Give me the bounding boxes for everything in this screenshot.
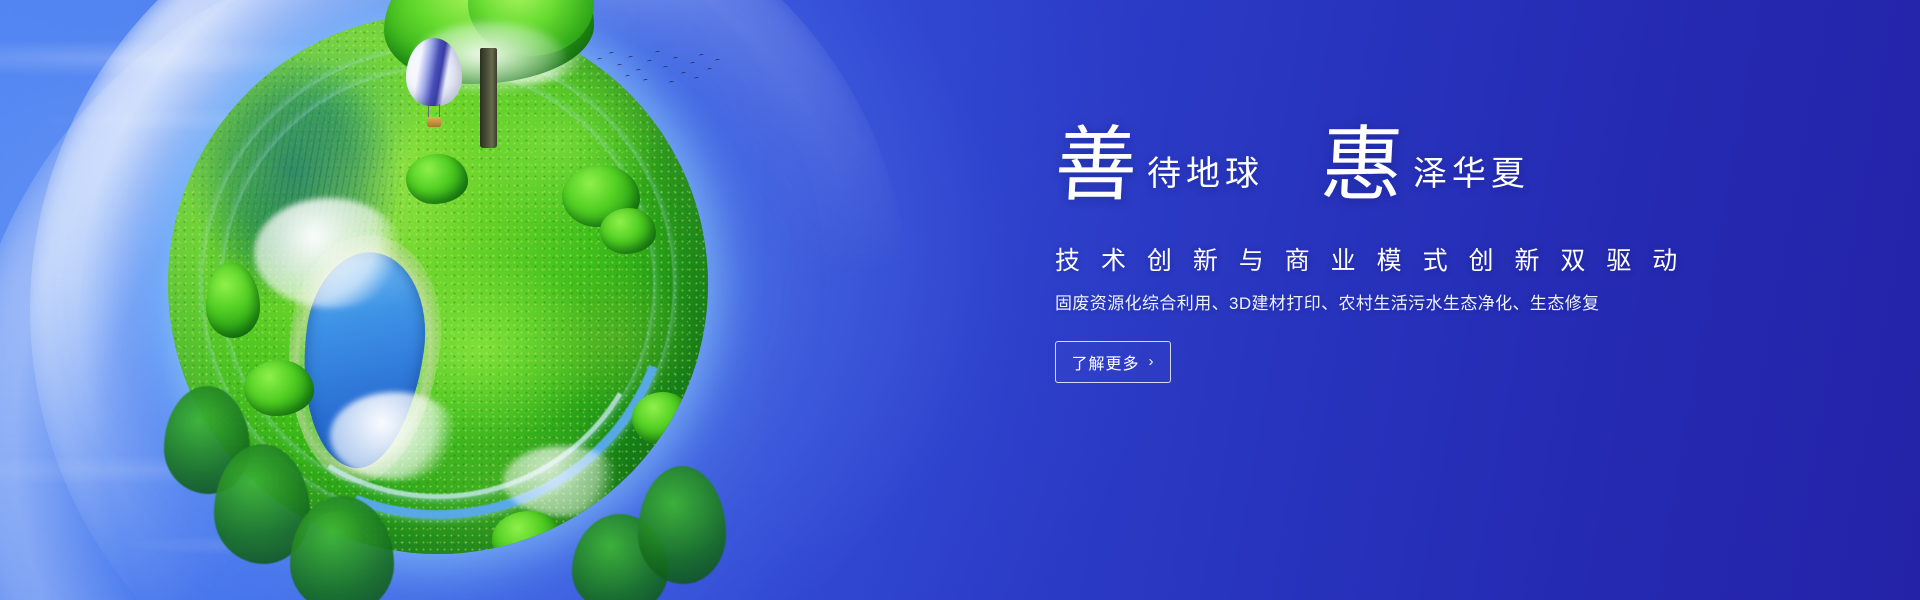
banner-content: 善 待地球 惠 泽华夏 技 术 创 新 与 商 业 模 式 创 新 双 驱 动 … [1055, 128, 1695, 383]
headline-chars-small-2: 泽华夏 [1403, 157, 1530, 203]
page-title: 善 待地球 惠 泽华夏 [1055, 128, 1695, 232]
headline-group-1: 善 待地球 [1055, 128, 1264, 203]
headline-group-2: 惠 泽华夏 [1321, 128, 1530, 203]
page-subtitle: 技 术 创 新 与 商 业 模 式 创 新 双 驱 动 [1055, 246, 1695, 277]
hot-air-balloon-icon [406, 38, 462, 134]
tree-cluster [244, 360, 314, 416]
surface-cloud [254, 198, 404, 308]
headline-char-large-2: 惠 [1319, 128, 1405, 203]
surface-cloud [503, 446, 623, 516]
tree-cluster [600, 208, 656, 254]
learn-more-button[interactable]: 了解更多 › [1055, 341, 1171, 383]
balloon-basket [427, 117, 441, 127]
globe-artwork [168, 14, 708, 554]
surface-cloud [330, 392, 460, 480]
headline-chars-small-1: 待地球 [1137, 157, 1264, 203]
bird-flock [595, 48, 725, 92]
chevron-right-icon: › [1149, 354, 1155, 369]
tree-cluster [632, 392, 692, 444]
learn-more-label: 了解更多 [1071, 350, 1139, 374]
tree-cluster [406, 154, 468, 204]
balloon-envelope [406, 38, 462, 106]
balloon-ropes [428, 104, 440, 118]
headline-char-large-1: 善 [1053, 128, 1139, 203]
page-description: 固废资源化综合利用、3D建材打印、农村生活污水生态净化、生态修复 [1055, 292, 1695, 316]
hero-banner: 善 待地球 惠 泽华夏 技 术 创 新 与 商 业 模 式 创 新 双 驱 动 … [0, 0, 1920, 600]
